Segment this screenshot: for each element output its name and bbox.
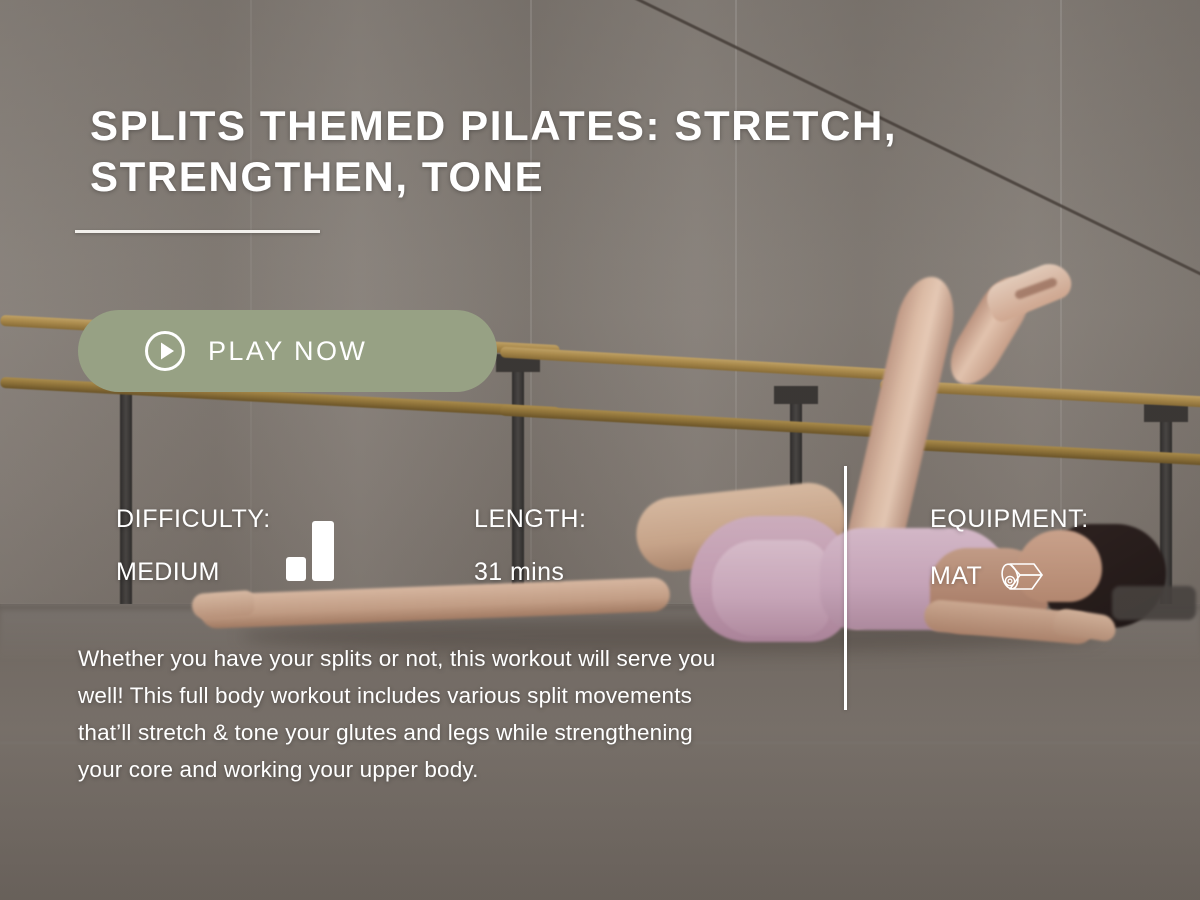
- workout-description: Whether you have your splits or not, thi…: [78, 640, 718, 788]
- card-overlay: Splits Themed Pilates: Stretch, Strength…: [0, 0, 1200, 900]
- equipment-label: Equipment:: [930, 505, 1089, 534]
- bar-chart-icon: [286, 521, 338, 581]
- equipment-value-row: Mat: [930, 558, 1089, 594]
- meta-equipment: Equipment: Mat: [930, 505, 1089, 594]
- rolled-mat-icon: [1000, 558, 1044, 594]
- length-value: 31 mins: [474, 558, 587, 587]
- meta-difficulty: Difficulty: Medium: [116, 505, 271, 587]
- difficulty-value: Medium: [116, 558, 271, 587]
- meta-length: Length: 31 mins: [474, 505, 587, 587]
- section-divider: [844, 466, 847, 710]
- equipment-value: Mat: [930, 562, 982, 591]
- video-card: Splits Themed Pilates: Stretch, Strength…: [0, 0, 1200, 900]
- difficulty-label: Difficulty:: [116, 505, 271, 534]
- length-label: Length:: [474, 505, 587, 534]
